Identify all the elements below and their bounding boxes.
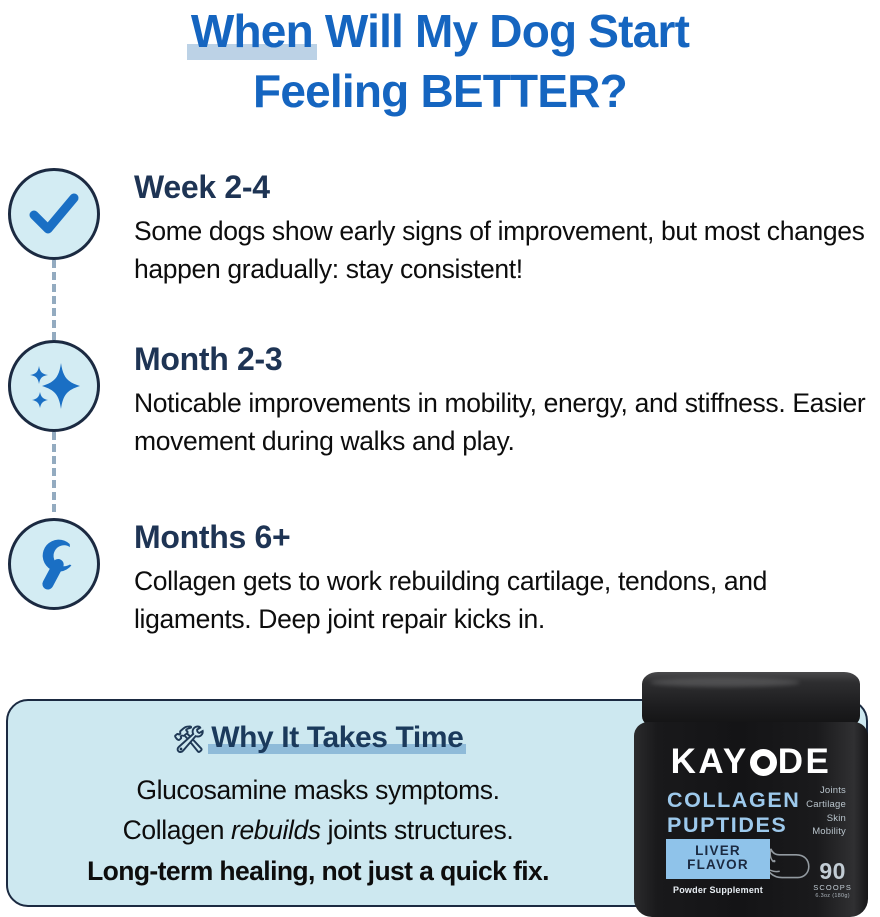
callout-line-2-pre: Collagen: [123, 815, 231, 845]
callout-line-1: Glucosamine masks symptoms.: [8, 770, 628, 810]
brand-o-ring-icon: [750, 749, 777, 776]
timeline-step-1-icon-col: [0, 168, 108, 260]
product-name: COLLAGEN PUPTIDES: [667, 788, 800, 838]
timeline-step-1: Week 2-4 Some dogs show early signs of i…: [0, 168, 880, 340]
flavor-line-2: FLAVOR: [666, 858, 770, 873]
product-name-line-2: PUPTIDES: [667, 813, 800, 838]
page-title: When Will My Dog Start Feeling BETTER?: [0, 2, 880, 122]
timeline-step-1-body: Some dogs show early signs of improvemen…: [134, 213, 866, 288]
timeline-step-2-icon-col: [0, 340, 108, 432]
title-highlight-word: When: [191, 2, 313, 62]
benefit-item: Joints: [806, 784, 846, 798]
flavor-line-1: LIVER: [666, 844, 770, 859]
title-line-1-rest: Will My Dog Start: [313, 5, 689, 57]
callout-heading-text: Why It Takes Time: [211, 721, 463, 754]
title-line-2: Feeling BETTER?: [0, 62, 880, 122]
brand-name: KAYDE: [634, 744, 868, 779]
wrench-icon: [25, 535, 83, 593]
callout-heading: 🛠Why It Takes Time: [8, 721, 628, 754]
timeline-step-3-body: Collagen gets to work rebuilding cartila…: [134, 563, 866, 638]
supplement-form-label: Powder Supplement: [666, 885, 770, 895]
timeline-connector-2: [52, 432, 56, 512]
benefit-item: Skin: [806, 812, 846, 826]
scoops-number: 90: [813, 861, 852, 883]
check-icon-badge: [8, 168, 100, 260]
callout-line-3: Long-term healing, not just a quick fix.: [8, 851, 628, 891]
check-icon: [25, 185, 83, 243]
product-benefits-list: Joints Cartilage Skin Mobility: [806, 784, 846, 839]
timeline-step-2: Month 2-3 Noticable improvements in mobi…: [0, 340, 880, 518]
timeline-step-1-text: Week 2-4 Some dogs show early signs of i…: [108, 168, 880, 288]
brand-name-part2: DE: [778, 742, 832, 781]
sparkle-icon: [23, 355, 85, 417]
timeline-step-3: Months 6+ Collagen gets to work rebuildi…: [0, 518, 880, 668]
scoops-weight: 6.3oz (180g): [813, 893, 852, 899]
wrench-icon-badge: [8, 518, 100, 610]
callout-line-2: Collagen rebuilds joints structures.: [8, 810, 628, 850]
scoops-info: 90 SCOOPS 6.3oz (180g): [813, 861, 852, 899]
jar-body: KAYDE COLLAGEN PUPTIDES Joints Cartilage…: [634, 722, 868, 917]
hammer-and-wrench-icon: 🛠: [173, 724, 206, 754]
product-jar: KAYDE COLLAGEN PUPTIDES Joints Cartilage…: [620, 666, 880, 917]
flavor-badge: LIVER FLAVOR: [666, 839, 770, 879]
timeline-step-3-text: Months 6+ Collagen gets to work rebuildi…: [108, 518, 880, 638]
benefit-item: Cartilage: [806, 798, 846, 812]
timeline: Week 2-4 Some dogs show early signs of i…: [0, 168, 880, 668]
callout-line-2-post: joints structures.: [321, 815, 514, 845]
benefit-item: Mobility: [806, 825, 846, 839]
scoops-label: SCOOPS: [813, 883, 852, 893]
callout-content: 🛠Why It Takes Time Glucosamine masks sym…: [8, 721, 628, 891]
callout-line-2-emphasis: rebuilds: [231, 815, 321, 845]
timeline-step-2-title: Month 2-3: [134, 342, 866, 377]
timeline-step-2-body: Noticable improvements in mobility, ener…: [134, 385, 866, 460]
timeline-step-1-title: Week 2-4: [134, 170, 866, 205]
timeline-step-3-icon-col: [0, 518, 108, 610]
brand-name-part1: KAY: [671, 742, 749, 781]
product-name-line-1: COLLAGEN: [667, 788, 800, 813]
timeline-step-3-title: Months 6+: [134, 520, 866, 555]
timeline-step-2-text: Month 2-3 Noticable improvements in mobi…: [108, 340, 880, 460]
timeline-connector-1: [52, 260, 56, 340]
jar-lid: [642, 672, 860, 728]
sparkle-icon-badge: [8, 340, 100, 432]
title-line-1: When Will My Dog Start: [0, 2, 880, 62]
